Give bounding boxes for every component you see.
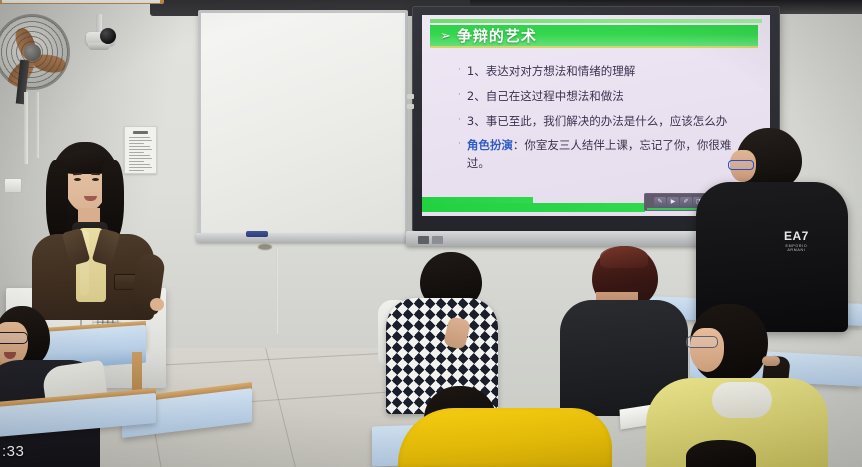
classroom-screenshot: ➢ 争辩的艺术 · 1、表达对对方想法和情绪的理解 · 2、自己在这过程中想法和… [0, 0, 862, 467]
teacher-eye-left [74, 178, 81, 181]
whiteboard-marker-tray [196, 233, 412, 242]
fan-hub [24, 44, 41, 61]
security-camera-icon [82, 14, 124, 54]
student-collar [712, 382, 772, 418]
bullet-text: 3、事已至此，我们解决的办法是什么，应该怎么办 [467, 113, 752, 131]
slide-bullet: · 1、表达对对方想法和情绪的理解 [458, 63, 752, 81]
teacher-figure [22, 142, 162, 312]
wall-fan-icon [0, 14, 70, 90]
ea7-brand-logo: EA7 EMPORIO ARMANI [784, 228, 809, 252]
glasses-icon [686, 336, 718, 348]
teacher-eye-right [92, 178, 99, 181]
teacher-hair-left [46, 160, 68, 242]
bullet-marker-icon: · [458, 63, 461, 78]
slide-footer-accent [422, 203, 645, 212]
hanging-wire [276, 248, 278, 334]
toolbar-handle[interactable] [647, 197, 653, 208]
slide-top-accent [430, 19, 762, 23]
wall-socket [4, 178, 22, 193]
slide-title-bar: ➢ 争辩的艺术 [430, 25, 758, 48]
pointer-tool-icon[interactable]: ▶ [667, 197, 679, 208]
student-yellow-jacket [398, 408, 612, 467]
timestamp-overlay: :33 [2, 443, 24, 460]
bullet-text: 1、表达对对方想法和情绪的理解 [467, 63, 752, 81]
fan-cage [0, 14, 70, 90]
hair-tie [762, 356, 780, 366]
pen-tool-icon[interactable]: ✎ [654, 197, 666, 208]
slide-title: 争辩的艺术 [457, 25, 537, 46]
bullet-text: 2、自己在这过程中想法和做法 [467, 88, 752, 106]
student-head-partial [686, 440, 756, 467]
highlighter-tool-icon[interactable]: ✐ [680, 197, 692, 208]
student-face [690, 328, 724, 372]
slide-bullet: · 2、自己在这过程中想法和做法 [458, 88, 752, 106]
roleplay-text: 角色扮演：你室友三人结伴上课，忘记了你，你很难过。 [467, 137, 752, 173]
whiteboard-marker [246, 231, 268, 237]
bullet-marker-icon: · [458, 113, 461, 128]
slide-bullet: · 3、事已至此，我们解决的办法是什么，应该怎么办 [458, 113, 752, 131]
slide-body: · 1、表达对对方想法和情绪的理解 · 2、自己在这过程中想法和做法 · 3、事… [458, 63, 752, 180]
camera-lens [100, 28, 116, 44]
glasses-icon [0, 332, 28, 344]
roleplay-highlight: 角色扮演 [467, 138, 513, 152]
student-hair-highlight [600, 246, 648, 268]
slide-bullet-roleplay: · 角色扮演：你室友三人结伴上课，忘记了你，你很难过。 [458, 137, 752, 173]
bullet-marker-icon: · [458, 88, 461, 103]
title-arrow-icon: ➢ [440, 29, 451, 42]
lectern-top-surface [2, 0, 160, 3]
whiteboard [198, 10, 408, 238]
panel-side-buttons[interactable] [407, 94, 414, 109]
glasses-icon [728, 160, 754, 170]
teacher-hand [150, 298, 164, 311]
bullet-marker-icon: · [458, 137, 461, 152]
whiteboard-smudge [258, 244, 272, 250]
panel-control-buttons[interactable] [418, 236, 443, 244]
